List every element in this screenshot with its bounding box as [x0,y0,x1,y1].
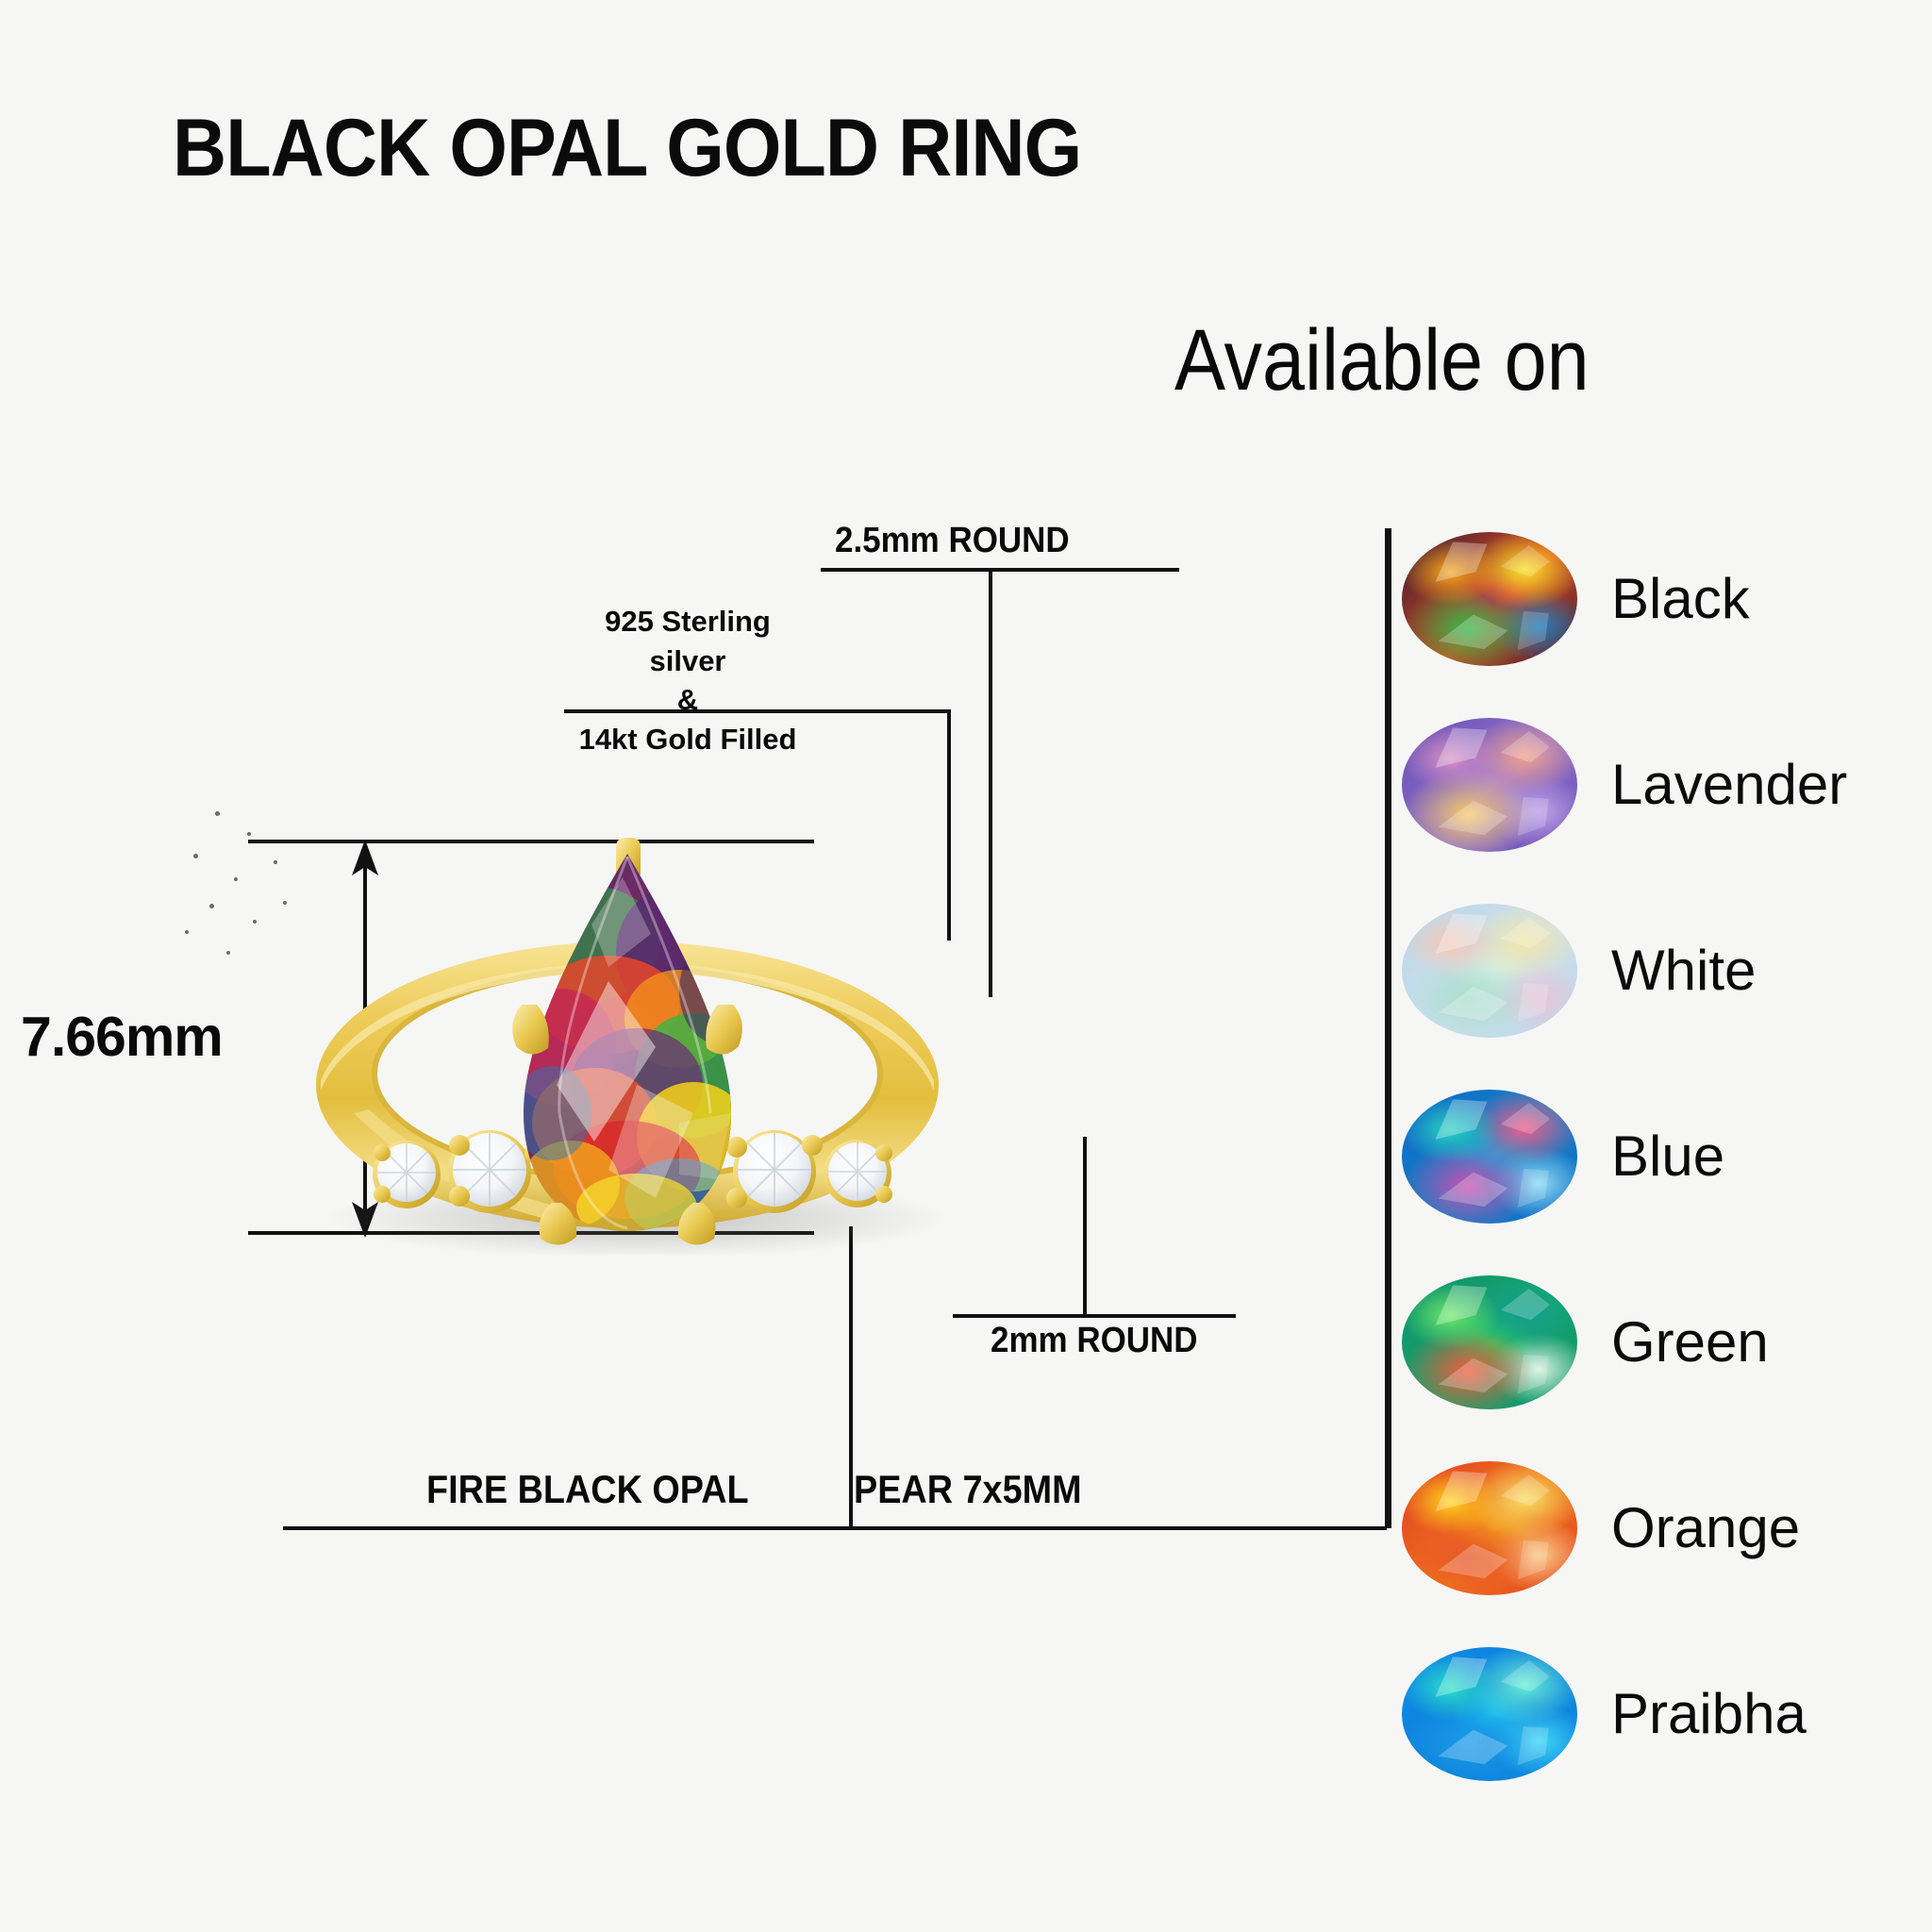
accent-stone-left-outer [373,1141,441,1208]
leader-rule-material [564,709,951,713]
callout-2mm-round: 2mm ROUND [991,1321,1198,1361]
gem-facet [1500,1282,1553,1324]
gem-facet [1426,1462,1492,1510]
leader-rule-2mm [953,1314,1236,1318]
speckle [226,951,230,955]
gem-facet [1500,724,1553,767]
available-on-heading: Available on [1174,311,1590,410]
speckle [253,920,257,924]
gem-facet [1500,539,1553,581]
ring-svg [165,802,1108,1255]
gem-oval-icon [1402,1090,1577,1224]
gem-option-label: Green [1611,1314,1769,1371]
speckle [234,877,238,881]
gem-facet [1426,905,1492,953]
leader-rule-2-5mm [821,568,1179,572]
gem-option-green[interactable]: Green [1387,1272,1932,1413]
gem-facet [1500,1096,1553,1139]
speckle [185,930,189,934]
gem-facet [1506,1719,1557,1766]
speckle [247,832,251,836]
speckle [283,901,287,905]
gem-oval-icon [1402,532,1577,666]
gem-option-label: Praibha [1611,1686,1807,1742]
gem-facet [1438,795,1509,839]
gem-facet [1506,1161,1557,1208]
gem-facet [1426,1091,1492,1139]
gem-facet [1438,981,1509,1024]
gem-facet [1506,604,1557,651]
gem-facet [1426,533,1492,581]
gem-facet [1500,910,1553,953]
callout-pear-size: PEAR 7x5MM [854,1467,1082,1512]
gem-option-label: Black [1611,571,1750,627]
gem-facet [1506,1533,1557,1580]
gem-facet [1506,1347,1557,1394]
gem-facet [1438,1539,1509,1582]
callout-material: 925 Sterling silver & 14kt Gold Filled [571,602,805,758]
gem-option-label: Lavender [1611,757,1847,813]
gem-facet [1506,975,1557,1023]
gem-option-lavender[interactable]: Lavender [1387,714,1932,856]
gem-facet [1426,719,1492,767]
gem-facet [1438,1724,1509,1768]
material-line-1: 925 Sterling silver [605,605,771,677]
gem-facet [1438,609,1509,653]
gem-oval-icon [1402,904,1577,1038]
accent-stone-right-outer [824,1140,892,1207]
gem-option-black[interactable]: Black [1387,528,1932,670]
leader-line-center-stone [849,1226,853,1528]
infographic-canvas: BLACK OPAL GOLD RING Available on 2.5mm … [0,0,1932,1932]
gem-option-label: Orange [1611,1500,1800,1557]
gem-oval-icon [1402,718,1577,852]
speckle [193,854,198,858]
callout-2-5mm-round: 2.5mm ROUND [835,521,1070,561]
material-line-3: 14kt Gold Filled [579,723,797,756]
gem-facet [1438,1353,1509,1396]
speckle [274,860,277,864]
gem-option-orange[interactable]: Orange [1387,1457,1932,1599]
baseline-rule-bottom [283,1526,1387,1530]
callout-fire-black-opal: FIRE BLACK OPAL [426,1467,749,1512]
gem-facet [1500,1654,1553,1696]
speckle [209,904,214,908]
gem-option-label: Blue [1611,1128,1724,1185]
gem-option-praibha[interactable]: Praibha [1387,1643,1932,1785]
gem-oval-icon [1402,1647,1577,1781]
gem-oval-icon [1402,1461,1577,1595]
page-title: BLACK OPAL GOLD RING [173,102,1081,195]
gem-options-list: BlackLavenderWhiteBlueGreenOrangePraibha [1387,528,1932,1849]
gem-oval-icon [1402,1275,1577,1409]
speckle [215,811,220,816]
gem-facet [1426,1276,1492,1324]
gem-facet [1506,790,1557,837]
ring-illustration [165,802,1108,1255]
gem-option-white[interactable]: White [1387,900,1932,1041]
gem-facet [1426,1648,1492,1696]
gem-option-blue[interactable]: Blue [1387,1086,1932,1227]
gem-facet [1438,1167,1509,1210]
gem-option-label: White [1611,942,1756,999]
gem-facet [1500,1468,1553,1510]
